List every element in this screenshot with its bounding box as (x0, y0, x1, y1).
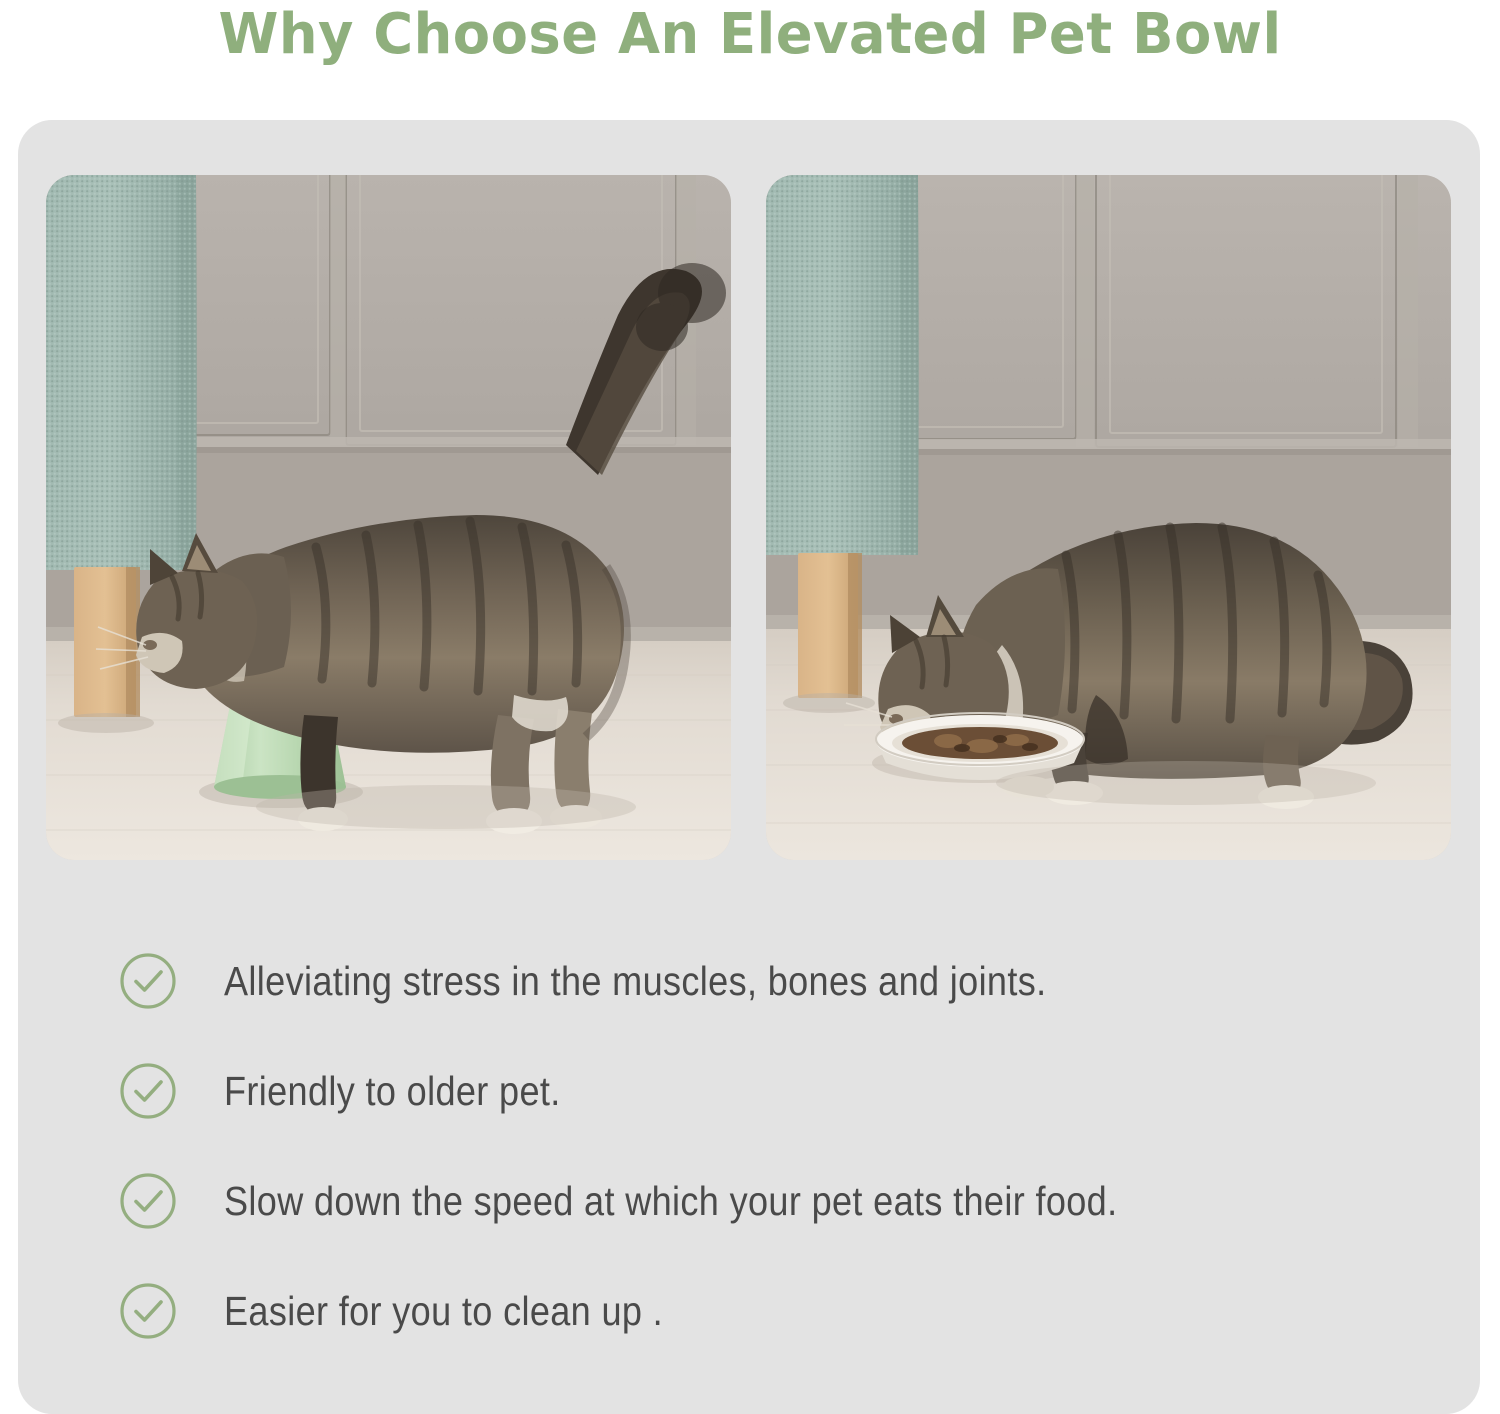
check-circle-icon (118, 1171, 178, 1231)
benefits-list: Alleviating stress in the muscles, bones… (118, 926, 1418, 1366)
check-circle-icon (118, 1061, 178, 1121)
benefit-item: Alleviating stress in the muscles, bones… (118, 926, 1418, 1036)
check-circle-icon (118, 1281, 178, 1341)
photo-floor-bowl (766, 175, 1451, 860)
infographic-page: Why Choose An Elevated Pet Bowl (0, 0, 1500, 1414)
content-card: Alleviating stress in the muscles, bones… (18, 120, 1480, 1414)
benefit-text: Alleviating stress in the muscles, bones… (224, 957, 1046, 1005)
benefit-item: Easier for you to clean up . (118, 1256, 1418, 1366)
benefit-text: Friendly to older pet. (224, 1067, 561, 1115)
photo-elevated-bowl (46, 175, 731, 860)
benefit-item: Slow down the speed at which your pet ea… (118, 1146, 1418, 1256)
benefit-text: Slow down the speed at which your pet ea… (224, 1177, 1117, 1225)
check-circle-icon (118, 951, 178, 1011)
benefit-item: Friendly to older pet. (118, 1036, 1418, 1146)
benefit-text: Easier for you to clean up . (224, 1287, 663, 1335)
page-title: Why Choose An Elevated Pet Bowl (23, 2, 1478, 68)
